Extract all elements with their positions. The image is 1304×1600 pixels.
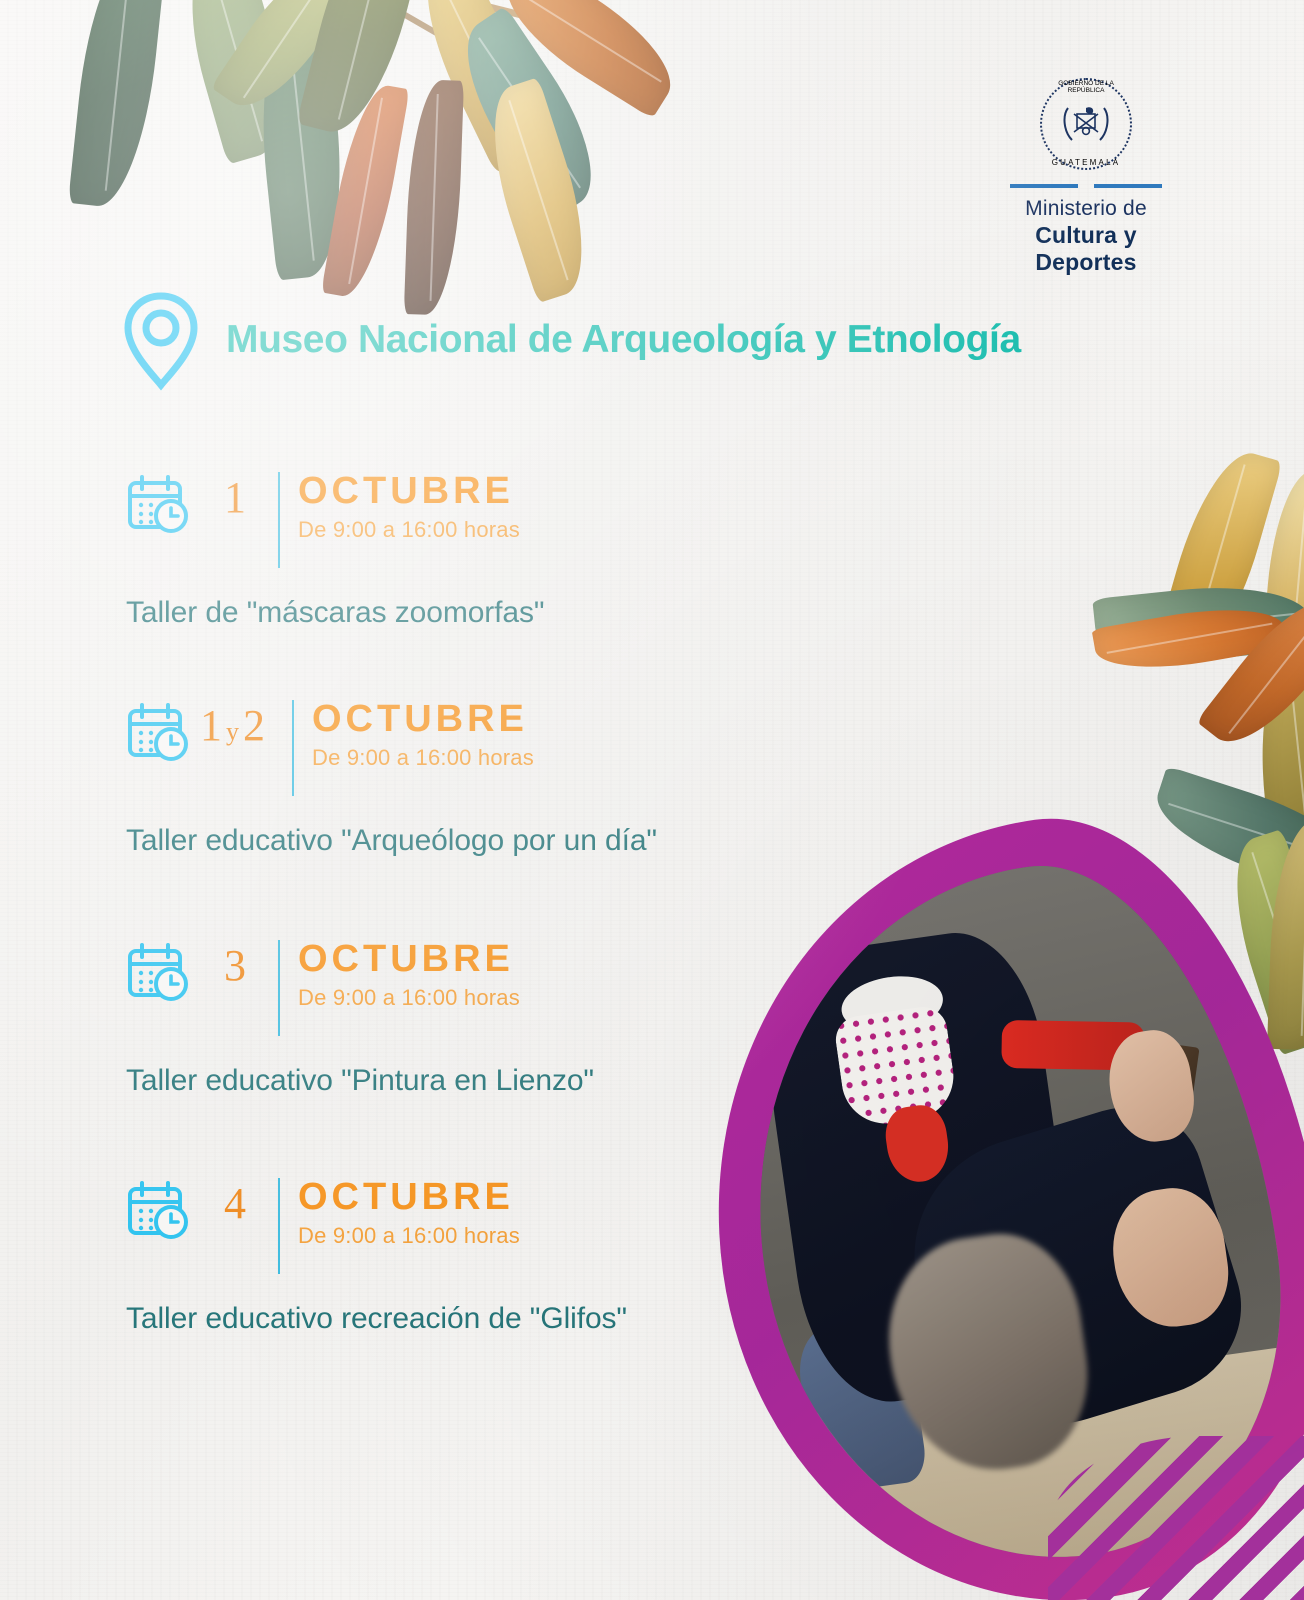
leaf-shape <box>1091 596 1287 680</box>
calendar-clock-icon <box>126 474 192 536</box>
leaf-shape <box>1153 442 1283 673</box>
event-description: Taller de "máscaras zoomorfas" <box>126 596 886 630</box>
ministry-line-2: Cultura y Deportes <box>986 222 1186 276</box>
event-day: 1y2 <box>192 698 292 748</box>
logo-divider-rules <box>986 184 1186 188</box>
leaf-shape <box>250 14 353 281</box>
event-block: 1 OCTUBRE De 9:00 a 16:00 horas Taller d… <box>126 470 886 630</box>
leaf-shape <box>170 0 303 165</box>
poster-canvas: GOBIERNO DE LA REPÚBLICA GUATEMALA Minis… <box>0 0 1304 1600</box>
leaf-shape <box>1092 577 1304 671</box>
event-month: OCTUBRE <box>312 700 534 740</box>
leaf-shape <box>439 6 620 221</box>
event-day-connector: y <box>222 717 243 746</box>
leaf-shape <box>472 77 605 303</box>
leaf-shape <box>68 0 167 210</box>
event-day: 1 <box>192 470 278 520</box>
event-hours: De 9:00 a 16:00 horas <box>298 1223 520 1249</box>
guatemala-seal-icon: GOBIERNO DE LA REPÚBLICA GUATEMALA <box>1040 78 1132 170</box>
event-month: OCTUBRE <box>298 940 520 980</box>
ministry-logo: GOBIERNO DE LA REPÚBLICA GUATEMALA Minis… <box>986 78 1186 276</box>
leaf-shape <box>211 0 361 124</box>
event-divider <box>278 1178 280 1274</box>
leaf-shape <box>1261 467 1304 666</box>
seal-bottom-text: GUATEMALA <box>1040 158 1132 167</box>
leaf-shape <box>402 0 559 174</box>
calendar-clock-icon <box>126 702 192 764</box>
event-hours: De 9:00 a 16:00 horas <box>298 985 520 1011</box>
location-pin-icon <box>118 288 204 392</box>
event-month: OCTUBRE <box>298 472 520 512</box>
event-divider <box>292 700 294 796</box>
venue-title: Museo Nacional de Arqueología y Etnologí… <box>226 318 1021 362</box>
leaves-top-left-decoration <box>0 0 700 320</box>
leaf-shape <box>296 0 430 143</box>
event-day: 4 <box>192 1176 278 1226</box>
event-month: OCTUBRE <box>298 1178 520 1218</box>
calendar-clock-icon <box>126 1180 192 1242</box>
seal-top-text: GOBIERNO DE LA REPÚBLICA <box>1040 80 1132 94</box>
calendar-clock-icon <box>126 942 192 1004</box>
ministry-line-1: Ministerio de <box>986 197 1186 221</box>
event-divider <box>278 940 280 1036</box>
quetzal-emblem-icon <box>1060 102 1112 146</box>
leaf-shape <box>321 80 410 301</box>
event-day: 3 <box>192 938 278 988</box>
leaf-shape <box>487 0 691 119</box>
event-hours: De 9:00 a 16:00 horas <box>312 745 534 771</box>
leaf-shape <box>404 79 464 316</box>
venue-heading: Museo Nacional de Arqueología y Etnologí… <box>118 288 1021 392</box>
event-divider <box>278 472 280 568</box>
event-hours: De 9:00 a 16:00 horas <box>298 517 520 543</box>
leaf-shape <box>1196 580 1304 762</box>
